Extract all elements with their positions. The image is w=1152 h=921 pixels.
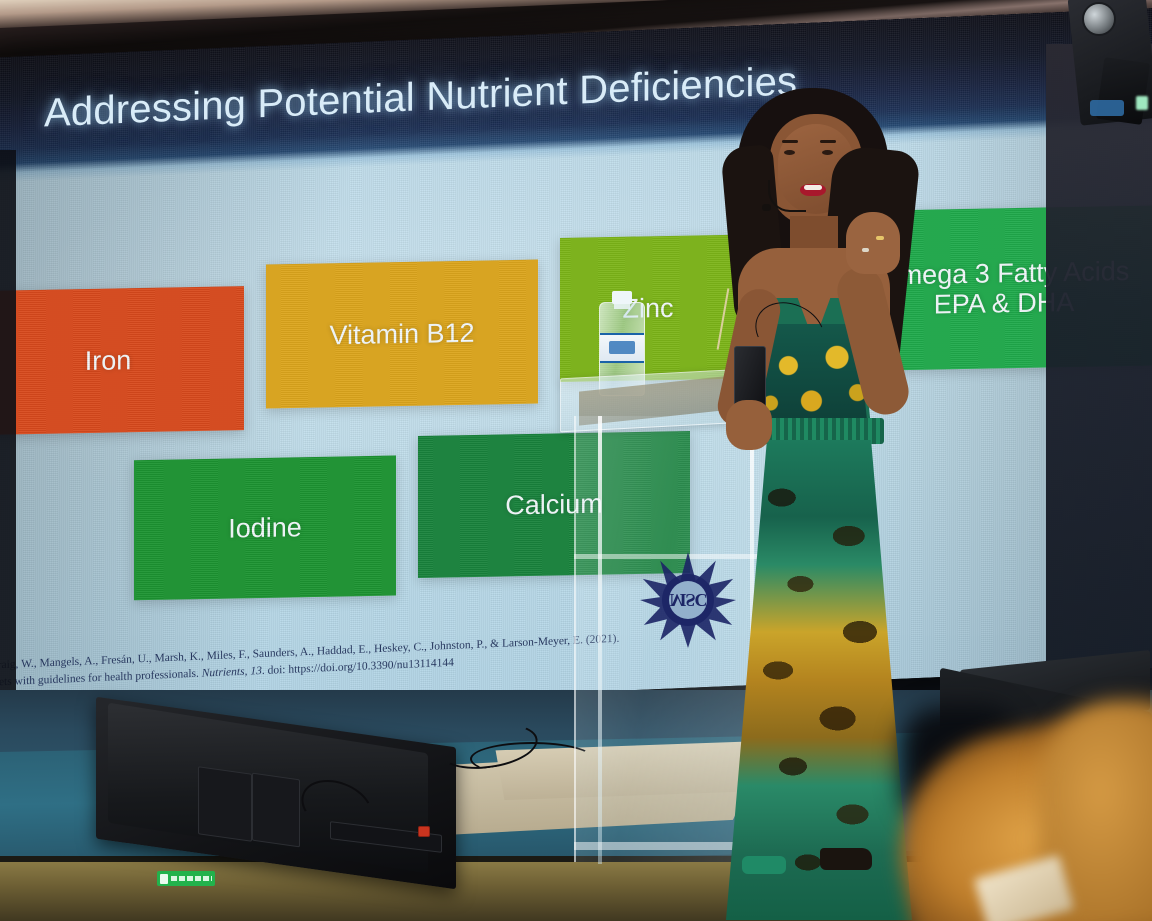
lectern-rail-left [598,416,602,864]
eye-left [784,150,795,155]
camera-lens-icon [1082,2,1116,36]
nutrient-label: Iron [85,345,132,376]
headset-mic-capsule [762,204,771,211]
citation-journal: Nutrients, 13 [202,665,262,680]
shoe-right [820,848,872,870]
ring-gold [876,236,884,240]
ring-silver [862,248,869,252]
equipment-box-2 [252,773,300,848]
left-wall [0,150,16,710]
right-wall [1046,44,1152,724]
hand-holding-device [726,400,772,450]
eye-right [822,150,833,155]
camera-body-accent [1090,100,1124,116]
power-strip-switch [418,826,430,837]
eyebrow-right [820,140,836,143]
dress-skirt-pattern [726,440,912,920]
sticker-icon [160,874,168,884]
eyebrow-left [782,140,798,143]
bottle-label [600,333,644,363]
nutrient-box-iron: Iron [0,286,244,435]
teeth [804,185,822,190]
nutrient-box-vitamin-b12: Vitamin B12 [266,260,538,409]
nutrient-label: Vitamin B12 [329,318,474,351]
equipment-sticker [157,871,215,886]
equipment-box-1 [198,766,252,842]
photo-scene: Addressing Potential Nutrient Deficienci… [0,0,1152,921]
hand-raised [846,212,900,274]
sticker-text-blur [171,876,212,881]
nutrient-box-iodine: Iodine [134,455,396,600]
nutrient-label: Iodine [228,512,302,544]
camera-indicator-light [1136,96,1148,110]
shoe-left [742,856,786,874]
transmitter-antenna [717,288,730,349]
bottle-cap [612,291,632,304]
